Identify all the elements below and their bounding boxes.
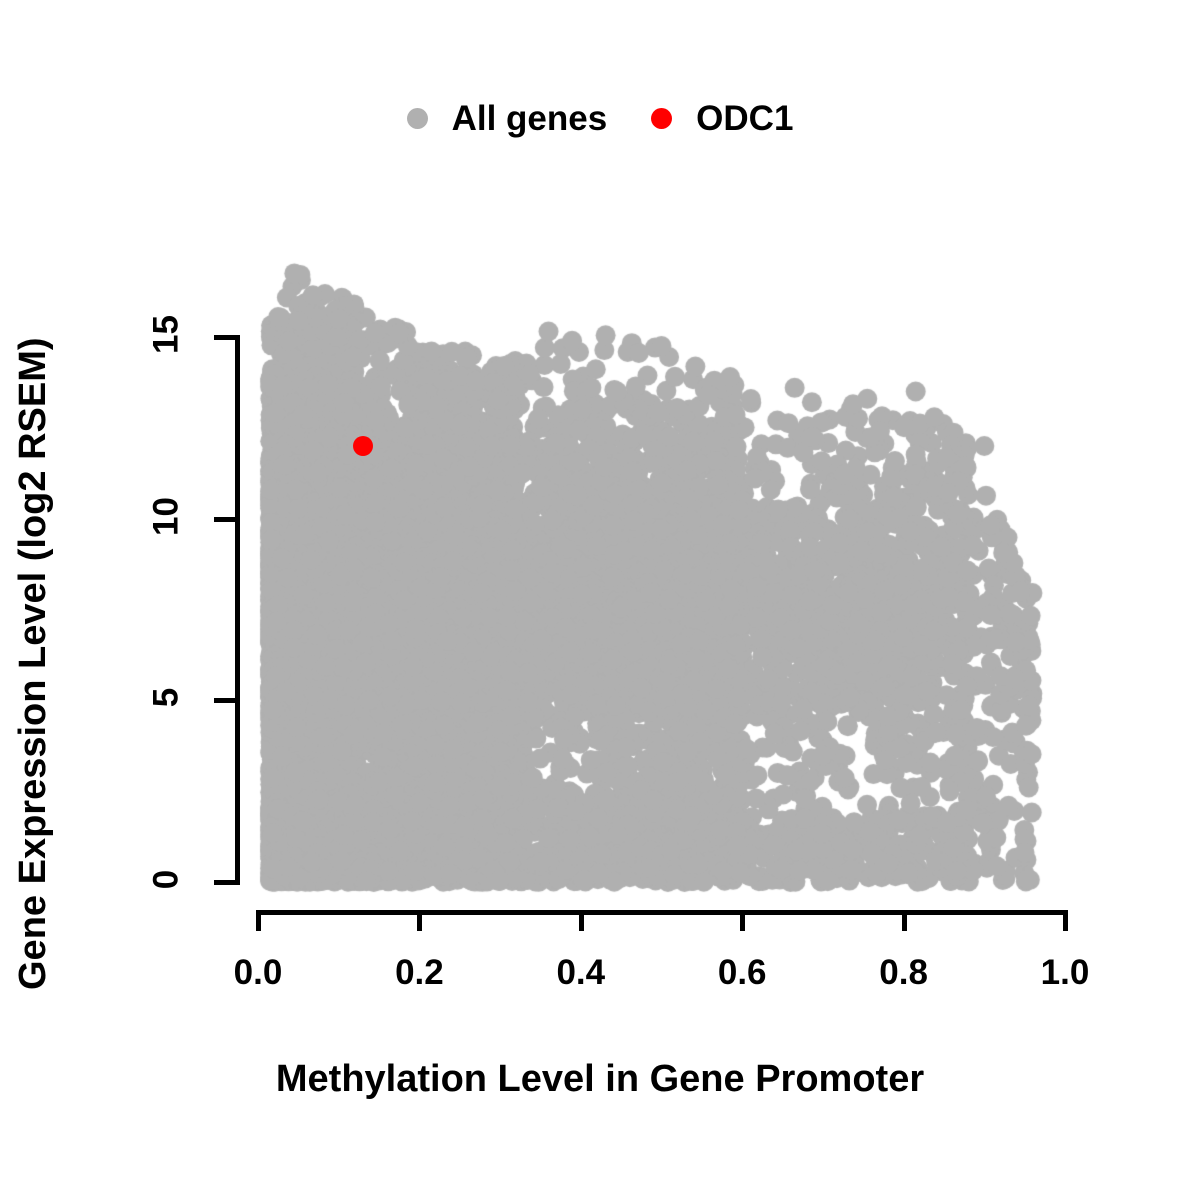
y-axis-tick xyxy=(214,698,235,703)
x-axis-tick-label: 0.8 xyxy=(844,955,964,990)
y-axis-line xyxy=(235,335,240,885)
y-axis-title: Gene Expression Level (log2 RSEM) xyxy=(12,337,55,990)
y-axis-tick-label: 5 xyxy=(149,658,184,738)
y-axis-tick xyxy=(214,517,235,522)
x-axis-line xyxy=(256,910,1068,915)
y-axis-tick-label: 0 xyxy=(149,840,184,920)
x-axis-tick xyxy=(417,910,422,931)
chart-root: All genes ODC1 0510150.00.20.40.60.81.0 … xyxy=(0,0,1200,1200)
x-axis-tick-label: 0.6 xyxy=(682,955,802,990)
x-axis-tick-label: 0.0 xyxy=(198,955,318,990)
x-axis-tick xyxy=(256,910,261,931)
y-axis-tick-label: 10 xyxy=(149,476,184,556)
scatter-plot-area: 0510150.00.20.40.60.81.0 xyxy=(0,0,1200,1200)
x-axis-tick xyxy=(740,910,745,931)
y-axis-tick xyxy=(214,335,235,340)
x-axis-tick-label: 0.2 xyxy=(359,955,479,990)
x-axis-tick xyxy=(902,910,907,931)
scatter-points-layer xyxy=(0,0,1200,1200)
x-axis-tick-label: 0.4 xyxy=(521,955,641,990)
x-axis-tick xyxy=(579,910,584,931)
x-axis-tick-label: 1.0 xyxy=(1005,955,1125,990)
odc1-data-point[interactable] xyxy=(353,436,373,456)
y-axis-tick-label: 15 xyxy=(149,295,184,375)
x-axis-tick xyxy=(1063,910,1068,931)
y-axis-tick xyxy=(214,880,235,885)
x-axis-title: Methylation Level in Gene Promoter xyxy=(0,1058,1200,1101)
